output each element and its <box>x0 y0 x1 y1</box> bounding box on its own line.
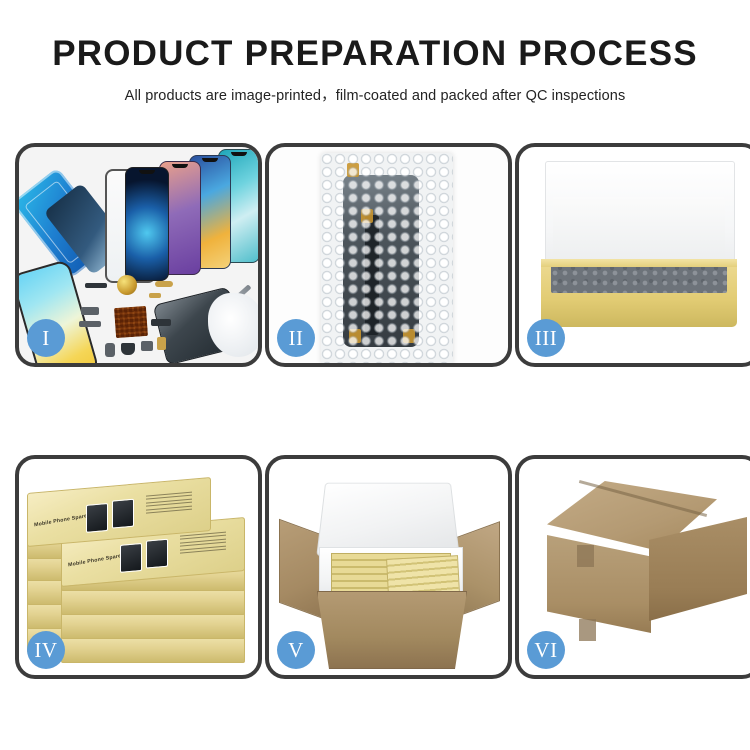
small-part-icon <box>151 319 171 326</box>
small-part-icon <box>79 321 101 327</box>
phone-notch-icon <box>202 158 218 162</box>
carton-tape-icon <box>577 545 594 567</box>
small-part-icon <box>81 307 99 315</box>
box-spec-lines <box>146 492 192 516</box>
small-part-icon <box>105 343 115 357</box>
bubble-wrap-bag-icon <box>321 153 453 363</box>
box-spec-lines <box>180 532 226 556</box>
process-step-panel-2[interactable]: II <box>265 143 512 367</box>
process-step-panel-4[interactable]: Mobile Phone Spare Parts Mobile Phone Sp <box>15 455 262 679</box>
product-photo-icon <box>86 503 108 533</box>
product-photo-icon <box>146 539 168 569</box>
step-badge-2: II <box>277 319 315 357</box>
carton-tape-icon <box>579 619 596 641</box>
step-badge-4: IV <box>27 631 65 669</box>
process-step-panel-3[interactable]: III <box>515 143 750 367</box>
lcd-assembly-icon <box>343 175 419 347</box>
flex-cable-icon <box>365 215 379 335</box>
stacked-box <box>61 587 245 615</box>
phone-icon-1 <box>125 167 169 281</box>
page-title: PRODUCT PREPARATION PROCESS <box>0 36 750 73</box>
page-subtitle: All products are image-printed，film-coat… <box>0 84 750 105</box>
small-part-icon <box>141 341 153 351</box>
stacked-box <box>61 611 245 639</box>
process-step-panel-1[interactable]: I <box>15 143 262 367</box>
process-step-grid: I II III <box>15 143 735 679</box>
phone-notch-icon <box>172 164 188 168</box>
small-part-icon <box>85 283 107 288</box>
step-badge-1: I <box>27 319 65 357</box>
step-badge-5: V <box>277 631 315 669</box>
box-tray-lip-icon <box>541 259 737 267</box>
phone-notch-icon <box>139 170 155 174</box>
screw-grid-icon <box>114 306 148 338</box>
gold-boxes-stack-icon <box>386 555 460 597</box>
product-photo-icon <box>120 543 142 573</box>
speaker-module-icon <box>117 275 137 295</box>
tape-icon <box>347 163 359 177</box>
stacked-box <box>61 635 245 663</box>
process-step-panel-5[interactable]: V <box>265 455 512 679</box>
carton-body-icon <box>317 591 467 669</box>
product-photo-icon <box>112 499 134 529</box>
tape-icon <box>403 329 415 343</box>
step-badge-6: VI <box>527 631 565 669</box>
small-part-icon <box>149 293 161 298</box>
small-part-icon <box>155 281 173 287</box>
step-badge-3: III <box>527 319 565 357</box>
tape-icon <box>361 209 373 223</box>
page-header: PRODUCT PREPARATION PROCESS All products… <box>0 0 750 105</box>
tape-icon <box>349 329 361 343</box>
process-step-panel-6[interactable]: VI <box>515 455 750 679</box>
small-part-icon <box>121 343 135 355</box>
carton-front-icon <box>547 535 651 633</box>
foam-lid-icon <box>316 483 459 556</box>
small-part-icon <box>157 337 166 350</box>
phone-notch-icon <box>231 152 247 156</box>
white-foam-sheet-icon <box>553 197 725 265</box>
